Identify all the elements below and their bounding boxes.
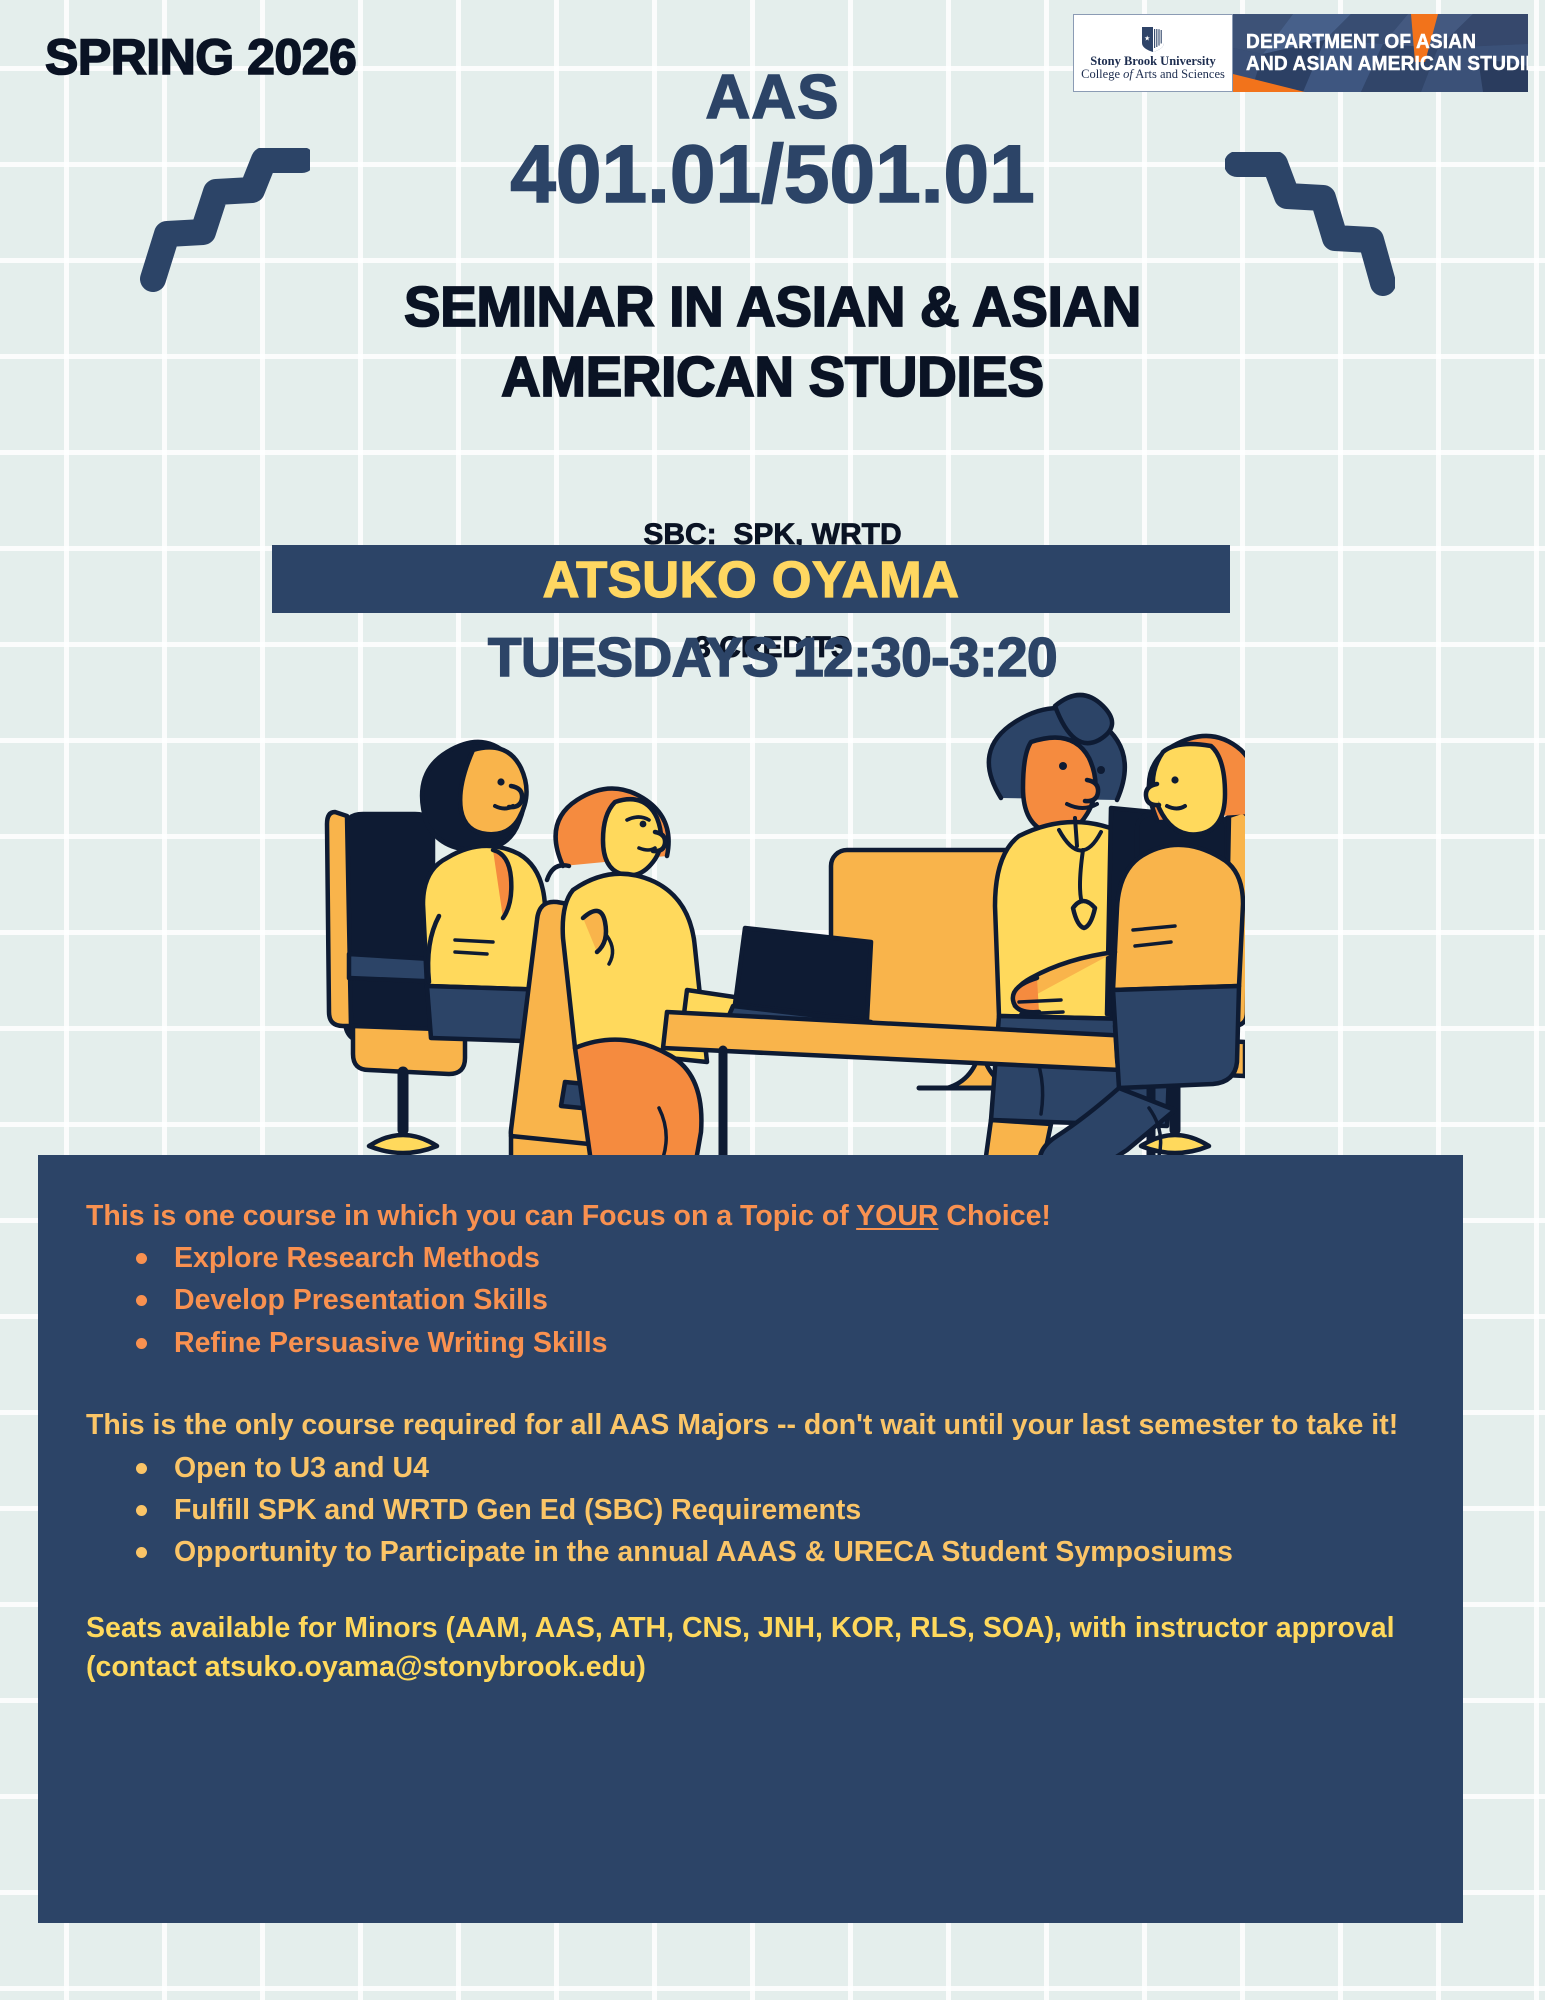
minors-paragraph: Seats available for Minors (AAM, AAS, AT… (86, 1609, 1415, 1687)
department-line-1: DEPARTMENT OF ASIAN (1246, 31, 1508, 53)
course-title-line-1: SEMINAR IN ASIAN & ASIAN (31, 272, 1514, 342)
stony-brook-logo-lockup: Stony Brook University College of Arts a… (1073, 14, 1528, 92)
sbu-shield-icon (1141, 26, 1165, 53)
list-item: Opportunity to Participate in the annual… (136, 1533, 1415, 1571)
spacer (86, 1366, 1415, 1406)
instructor-bar: ATSUKO OYAMA (272, 545, 1230, 613)
department-banner: DEPARTMENT OF ASIAN AND ASIAN AMERICAN S… (1233, 14, 1528, 92)
list-item: Explore Research Methods (136, 1239, 1415, 1277)
meeting-time: TUESDAYS 12:30-3:20 (0, 625, 1545, 689)
spacer (86, 1575, 1415, 1609)
intro-pre: This is one course in which you can Focu… (86, 1200, 856, 1232)
intro-line: This is one course in which you can Focu… (86, 1197, 1415, 1235)
university-logo-box: Stony Brook University College of Arts a… (1073, 14, 1233, 92)
department-line-2: AND ASIAN AMERICAN STUDIES (1246, 53, 1508, 75)
list-item: Refine Persuasive Writing Skills (136, 1324, 1415, 1362)
instructor-name: ATSUKO OYAMA (543, 550, 960, 609)
requirement-paragraph: This is the only course required for all… (86, 1406, 1415, 1445)
course-title-line-2: AMERICAN STUDIES (31, 342, 1514, 412)
course-description-panel: This is one course in which you can Focu… (38, 1155, 1463, 1923)
classroom-illustration (315, 690, 1245, 1190)
college-name: College of Arts and Sciences (1081, 68, 1225, 82)
course-number: 401.01/501.01 (0, 128, 1545, 222)
list-item: Open to U3 and U4 (136, 1449, 1415, 1487)
intro-bullet-list: Explore Research Methods Develop Present… (86, 1239, 1415, 1362)
requirement-bullet-list: Open to U3 and U4 Fulfill SPK and WRTD G… (86, 1449, 1415, 1572)
course-title: SEMINAR IN ASIAN & ASIAN AMERICAN STUDIE… (31, 272, 1514, 412)
intro-emphasis: YOUR (856, 1200, 938, 1232)
course-flyer: SPRING 2026 Stony Brook University Colle… (0, 0, 1545, 2000)
list-item: Fulfill SPK and WRTD Gen Ed (SBC) Requir… (136, 1491, 1415, 1529)
intro-post: Choice! (938, 1200, 1050, 1232)
list-item: Develop Presentation Skills (136, 1281, 1415, 1319)
